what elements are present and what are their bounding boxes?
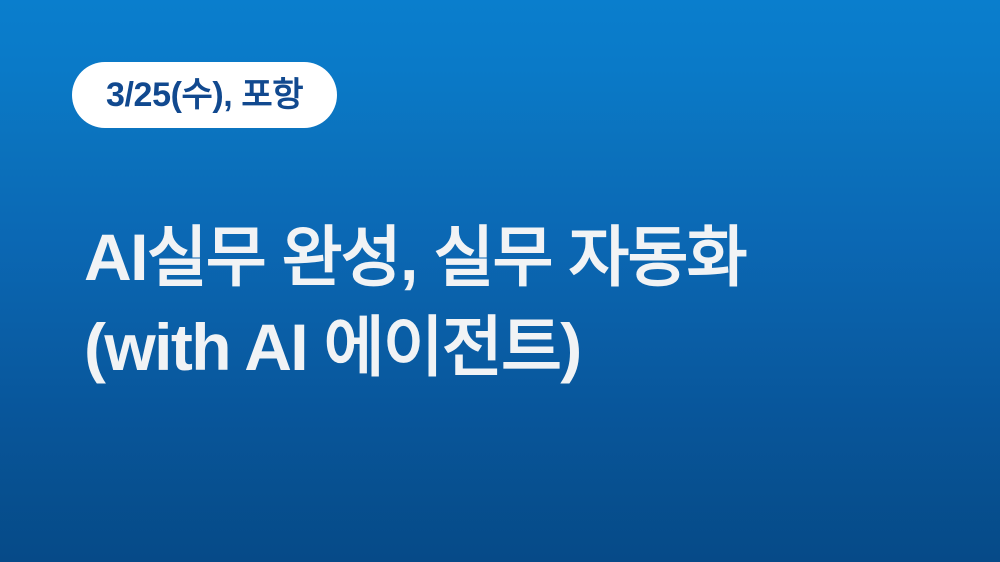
- headline-line-2: (with AI 에이전트): [84, 302, 944, 392]
- event-title-slide: 3/25(수), 포항 AI실무 완성, 실무 자동화 (with AI 에이전…: [0, 0, 1000, 562]
- headline-line-1: AI실무 완성, 실무 자동화: [84, 212, 944, 302]
- date-location-badge: 3/25(수), 포항: [72, 62, 337, 128]
- headline-block: AI실무 완성, 실무 자동화 (with AI 에이전트): [84, 212, 944, 392]
- date-location-label: 3/25(수), 포항: [106, 78, 303, 112]
